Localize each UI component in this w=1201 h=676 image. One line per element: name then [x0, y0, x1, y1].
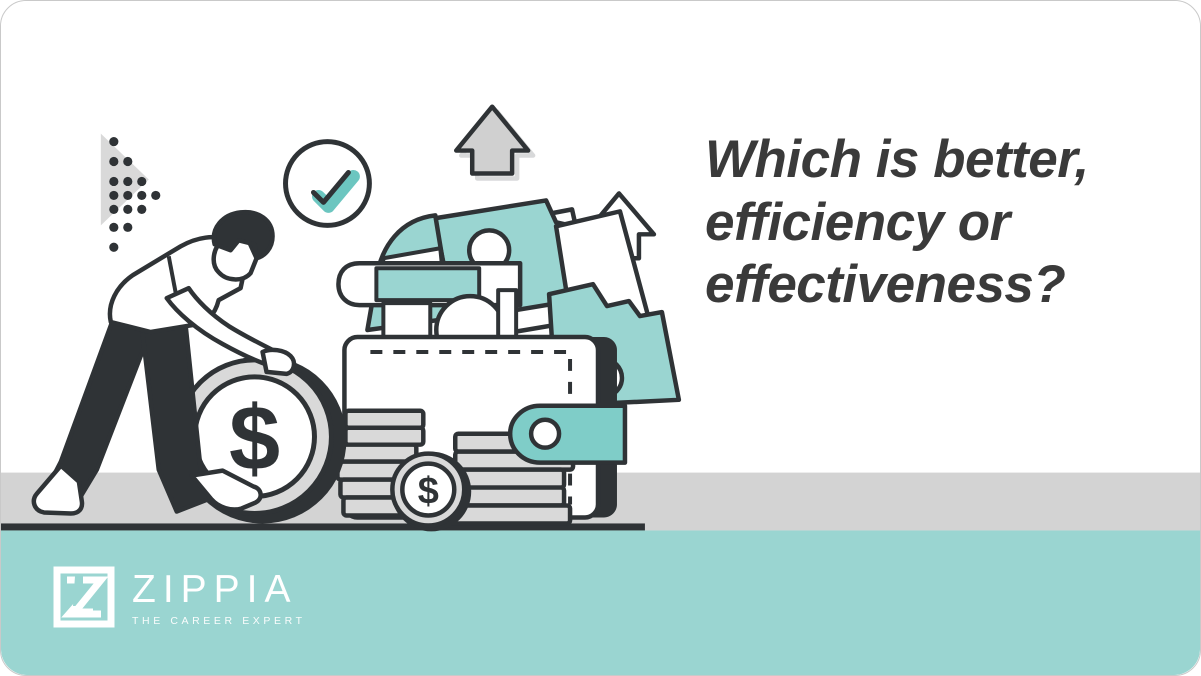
- svg-text:$: $: [229, 388, 280, 490]
- brand-text: ZIPPIA THE CAREER EXPERT: [132, 568, 306, 627]
- wallet-strap: [510, 406, 625, 463]
- svg-text:$: $: [418, 471, 439, 513]
- check-circle-icon: [286, 142, 370, 226]
- small-dollar-coin: $: [391, 452, 471, 532]
- page-title: Which is better, efficiency or effective…: [705, 129, 1125, 317]
- illustration-card: $ $: [0, 0, 1201, 676]
- brand-tagline: THE CAREER EXPERT: [132, 616, 306, 627]
- brand-logo: ZIPPIA THE CAREER EXPERT: [53, 566, 306, 628]
- brand-name: ZIPPIA: [132, 570, 306, 609]
- zippia-z-mark-icon: [53, 566, 115, 628]
